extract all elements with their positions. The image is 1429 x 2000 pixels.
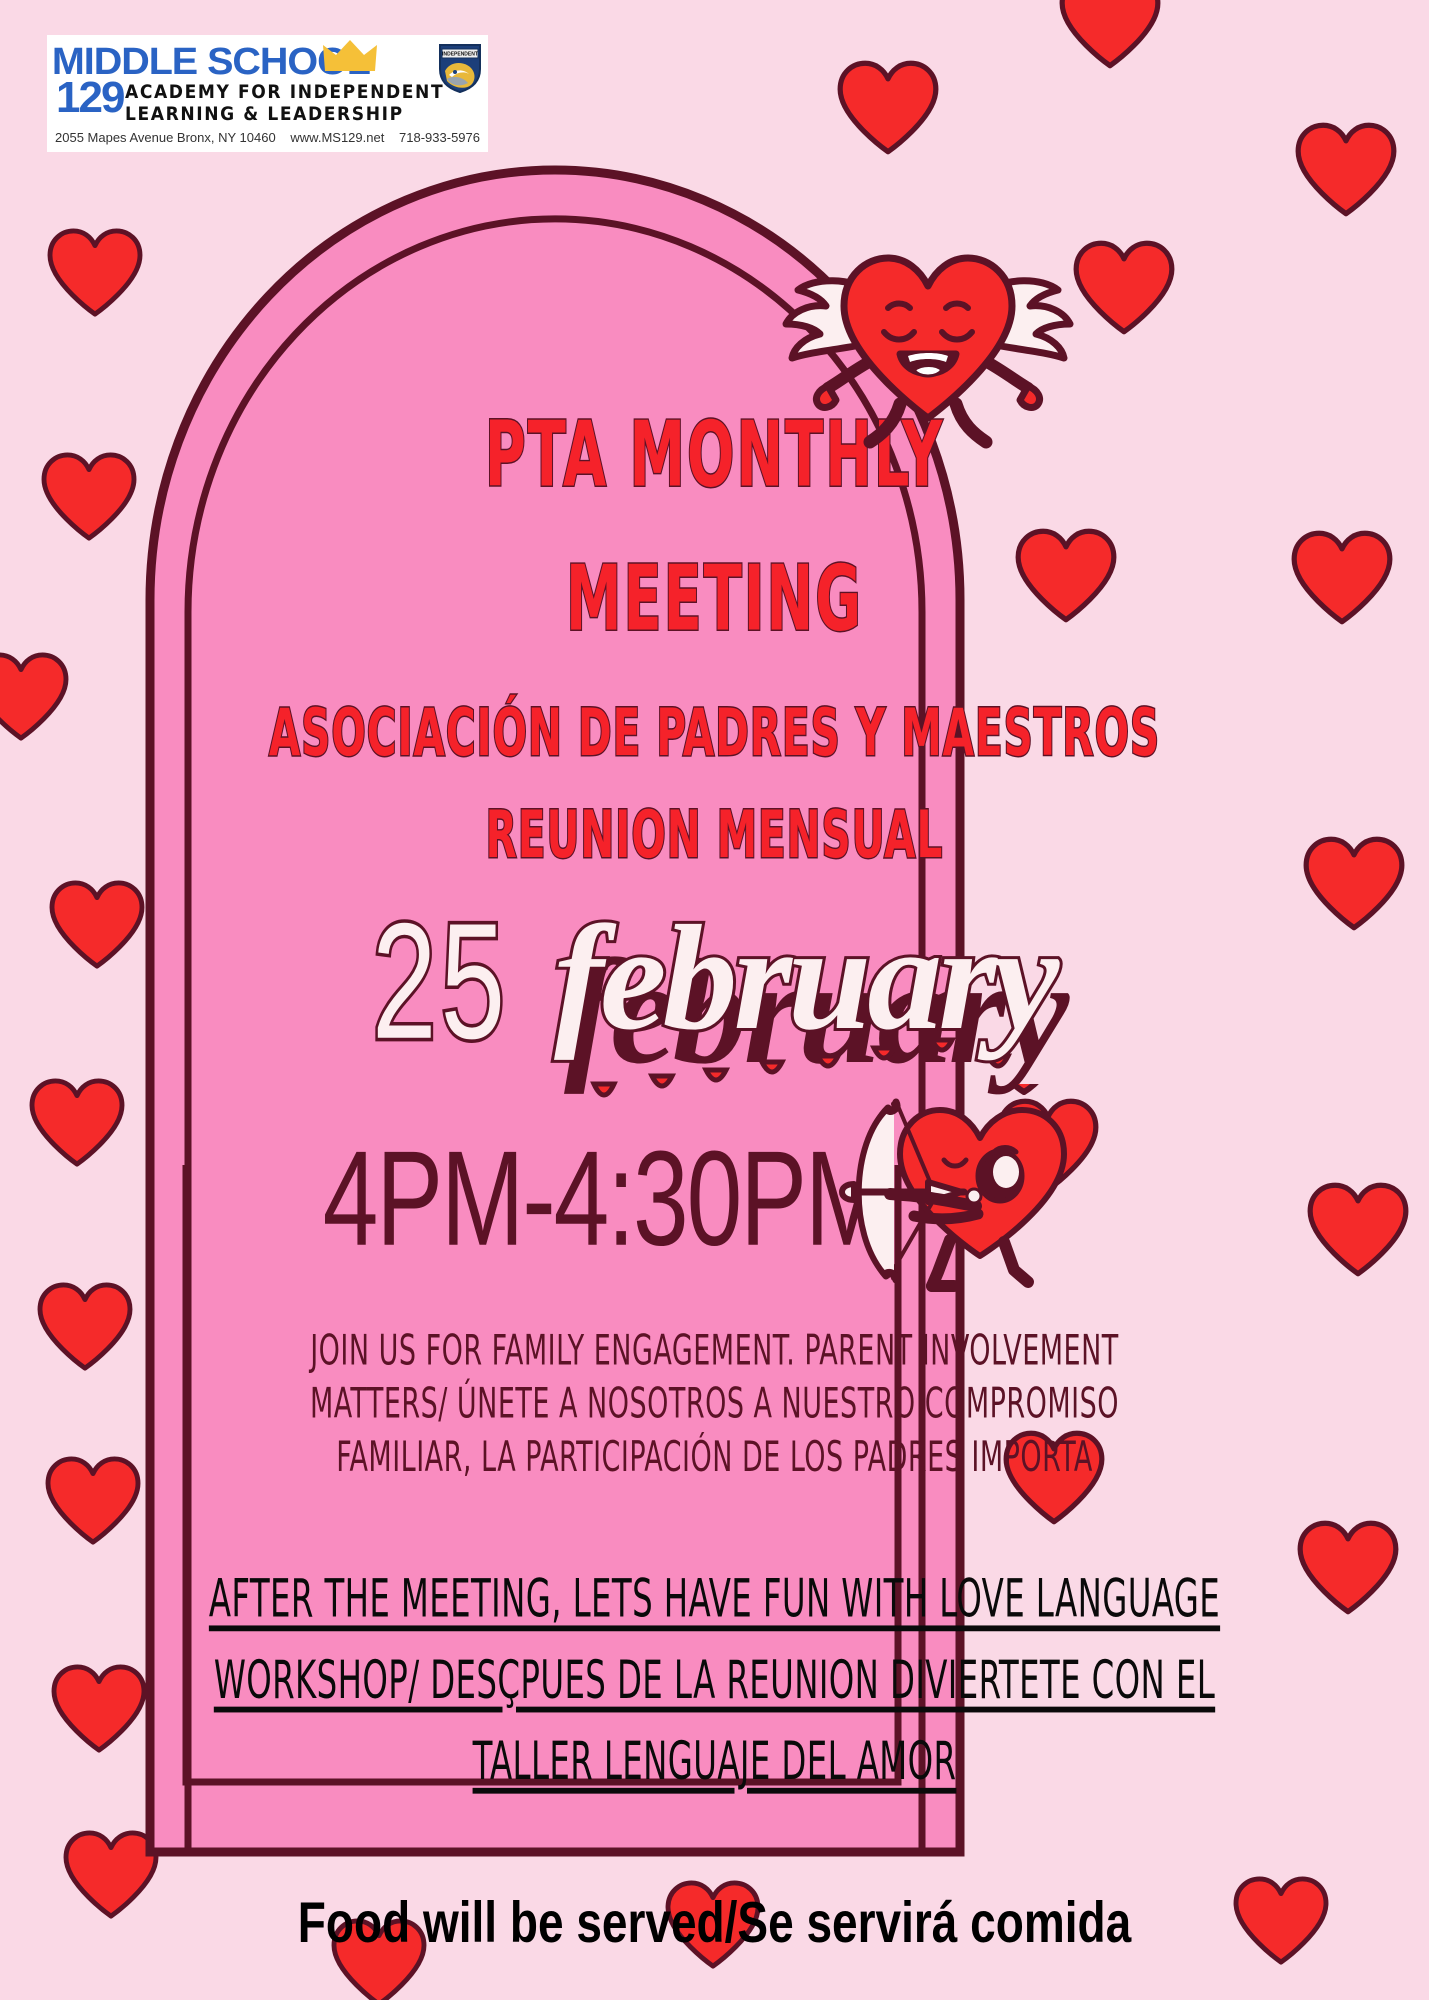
school-logo-header: MIDDLE SCHOOL 129 ACADEMY FOR INDEPENDEN…	[47, 35, 488, 152]
description-paragraph: JOIN US FOR FAMILY ENGAGEMENT. PARENT IN…	[0, 1325, 1429, 1485]
title-line-1: PTA MONTHLY	[0, 402, 1429, 508]
workshop-line-2: WORKSHOP/ DESÇPUES DE LA REUNION DIVIERT…	[214, 1652, 1215, 1711]
subtitle-line-1: ASOCIACIÓN DE PADRES Y MAESTROS	[0, 694, 1429, 771]
description-line-1: JOIN US FOR FAMILY ENGAGEMENT. PARENT IN…	[0, 1325, 1429, 1378]
title-line-2: MEETING	[0, 546, 1429, 652]
crest-text-top: INDEPENDENT	[442, 52, 478, 58]
eagle-crest-icon: INDEPENDENT LEARNING/LEADERSHIP	[437, 41, 483, 98]
crest-text-bottom: LEARNING/LEADERSHIP	[442, 59, 478, 63]
event-month-script: february february	[540, 888, 1100, 1108]
event-day-number: 25	[372, 886, 509, 1076]
winged-heart-mascot	[770, 228, 1080, 463]
event-date-row: 25 february	[0, 898, 1429, 1108]
flyer-content: PTA MONTHLY MEETING ASOCIACIÓN DE PADRES…	[0, 0, 1429, 2000]
svg-text:february: february	[554, 895, 1061, 1061]
footer-food-note: Food will be served/Se servirá comida	[0, 1888, 1429, 1956]
workshop-paragraph: AFTER THE MEETING, LETS HAVE FUN WITH LO…	[0, 1560, 1429, 1804]
cupid-archer-heart-mascot	[828, 1084, 1118, 1314]
subtitle-line-2: REUNION MENSUAL	[0, 796, 1429, 873]
workshop-line-1: AFTER THE MEETING, LETS HAVE FUN WITH LO…	[209, 1570, 1220, 1629]
logo-academy-line-1: ACADEMY FOR INDEPENDENT	[125, 81, 444, 103]
logo-school-number: 129	[56, 73, 123, 123]
logo-phone: 718-933-5976	[399, 130, 480, 145]
logo-address: 2055 Mapes Avenue Bronx, NY 10460	[55, 130, 276, 145]
logo-academy-line-2: LEARNING & LEADERSHIP	[125, 103, 404, 125]
flyer-poster: PTA MONTHLY MEETING ASOCIACIÓN DE PADRES…	[0, 0, 1429, 2000]
description-line-2: MATTERS/ ÚNETE A NOSOTROS A NUESTRO COMP…	[0, 1378, 1429, 1431]
logo-contact-row: 2055 Mapes Avenue Bronx, NY 10460 www.MS…	[55, 130, 480, 145]
crown-icon	[322, 39, 378, 78]
workshop-line-3: TALLER LENGUAJE DEL AMOR	[473, 1733, 957, 1792]
description-line-3: FAMILIAR, LA PARTICIPACIÓN DE LOS PADRES…	[0, 1432, 1429, 1485]
logo-website[interactable]: www.MS129.net	[290, 130, 384, 145]
